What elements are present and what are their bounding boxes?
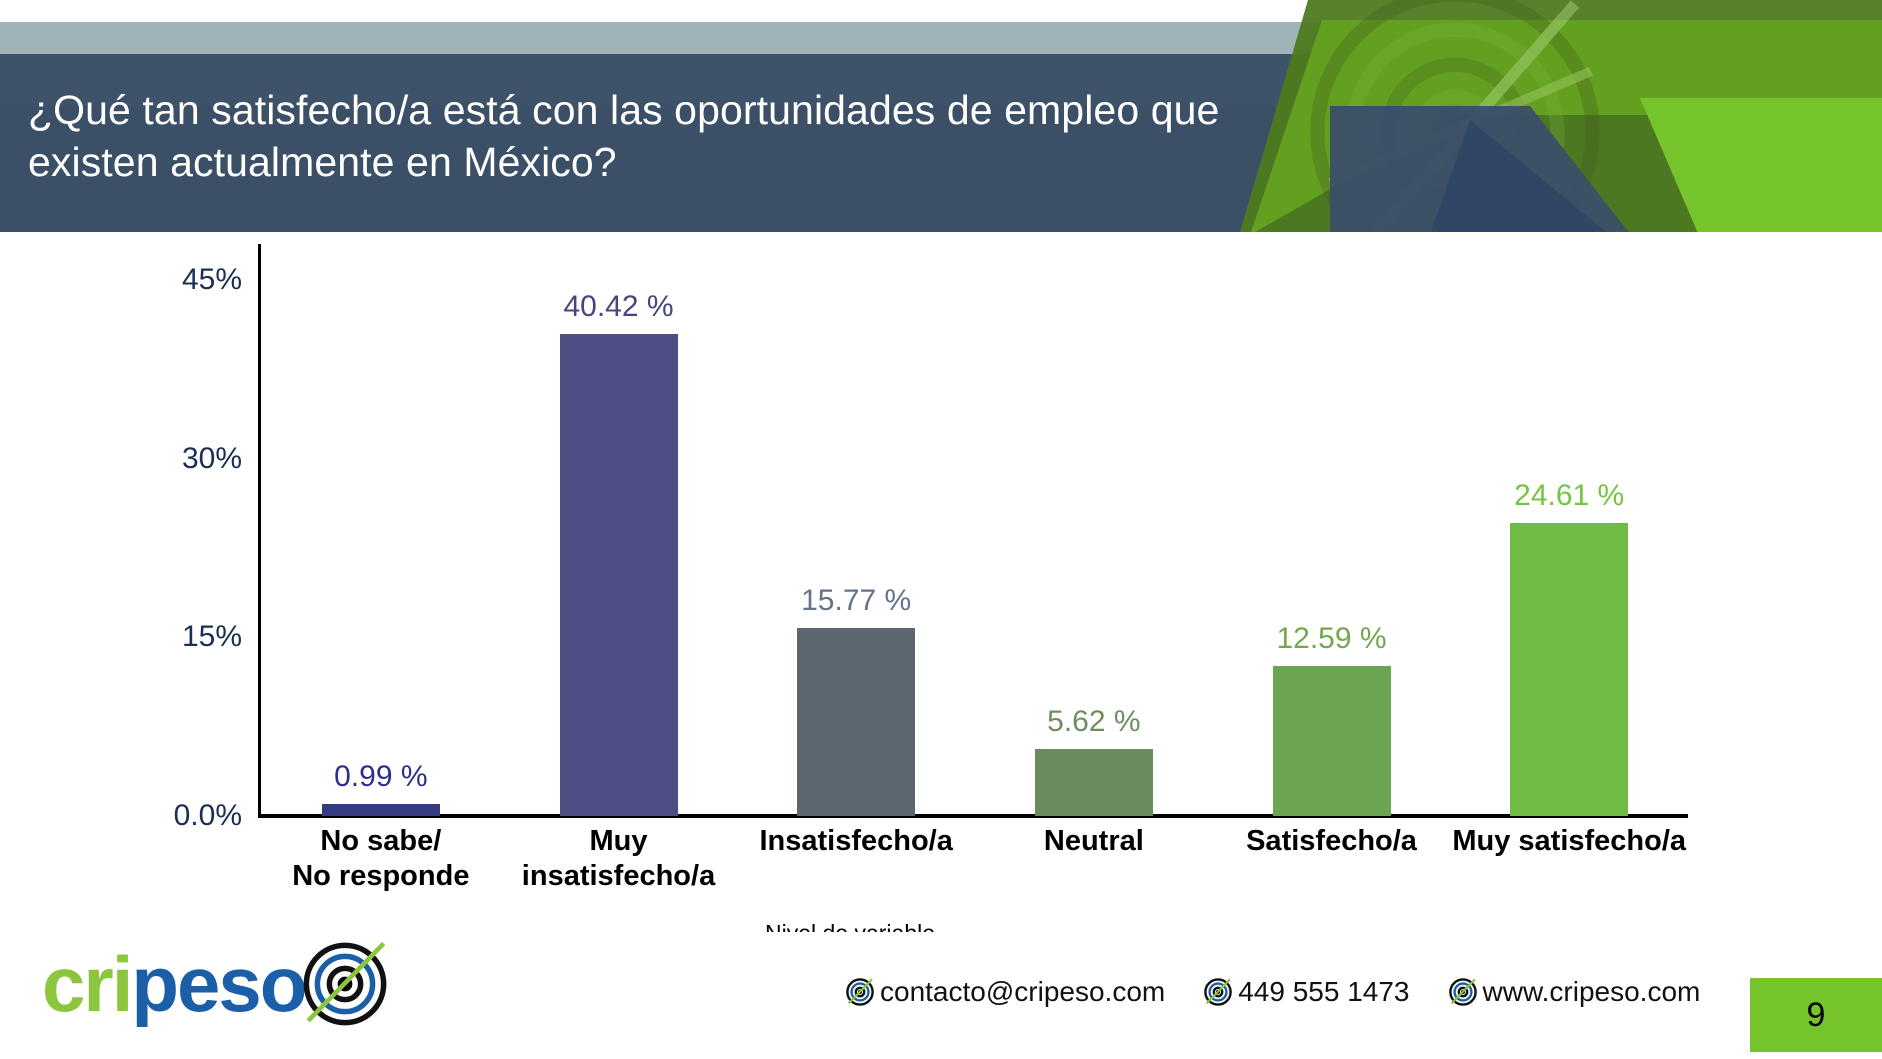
slide-footer: cripeso contacto@cripeso.com449 555 1473… xyxy=(0,932,1882,1059)
target-icon xyxy=(1448,977,1478,1007)
logo-text-peso: peso xyxy=(131,940,305,1028)
contact-text: www.cripeso.com xyxy=(1483,976,1701,1008)
bar-slot: 24.61 % xyxy=(1450,244,1688,816)
logo-target-icon xyxy=(299,938,391,1030)
x-axis-tick-label: Muy insatisfecho/a xyxy=(500,824,738,895)
bar-value-label: 15.77 % xyxy=(726,584,986,618)
contact-text: contacto@cripeso.com xyxy=(880,976,1165,1008)
slide-header: ¿Qué tan satisfecho/a está con las oport… xyxy=(0,0,1882,232)
bar-slot: 15.77 % xyxy=(737,244,975,816)
x-axis-category-labels: No sabe/ No respondeMuy insatisfecho/aIn… xyxy=(262,824,1688,895)
chart-container: 45%30%15%0.0% 0.99 %40.42 %15.77 %5.62 %… xyxy=(0,232,1882,932)
contact-item[interactable]: www.cripeso.com xyxy=(1448,976,1701,1008)
bar xyxy=(1035,749,1153,816)
bar xyxy=(322,804,440,816)
contact-item[interactable]: 449 555 1473 xyxy=(1203,976,1409,1008)
bar-value-label: 0.99 % xyxy=(251,760,511,794)
y-axis-tick-label: 30% xyxy=(182,442,258,476)
bar-series: 0.99 %40.42 %15.77 %5.62 %12.59 %24.61 % xyxy=(262,244,1688,816)
bar-slot: 40.42 % xyxy=(500,244,738,816)
y-axis-tick-label: 0.0% xyxy=(174,799,258,833)
logo-wordmark: cripeso xyxy=(42,945,305,1023)
page-number-badge: 9 xyxy=(1750,978,1882,1052)
contact-item[interactable]: contacto@cripeso.com xyxy=(845,976,1165,1008)
bar xyxy=(1273,666,1391,816)
x-axis-tick-label: Satisfecho/a xyxy=(1213,824,1451,895)
footer-contact-row: contacto@cripeso.com449 555 1473www.crip… xyxy=(845,976,1700,1008)
bar xyxy=(560,334,678,816)
x-axis-tick-label: No sabe/ No responde xyxy=(262,824,500,895)
x-axis-tick-label: Neutral xyxy=(975,824,1213,895)
x-axis-tick-label: Muy satisfecho/a xyxy=(1450,824,1688,895)
bar xyxy=(797,628,915,816)
cripeso-logo: cripeso xyxy=(42,936,391,1032)
contact-text: 449 555 1473 xyxy=(1238,976,1409,1008)
target-icon xyxy=(845,977,875,1007)
bar-slot: 5.62 % xyxy=(975,244,1213,816)
bar-value-label: 12.59 % xyxy=(1202,622,1462,656)
page-title: ¿Qué tan satisfecho/a está con las oport… xyxy=(28,84,1228,188)
target-icon xyxy=(1203,977,1233,1007)
bar-value-label: 5.62 % xyxy=(964,705,1224,739)
y-axis-tick-label: 15% xyxy=(182,620,258,654)
y-axis-tick-label: 45% xyxy=(182,263,258,297)
logo-text-cri: cri xyxy=(42,940,131,1028)
bar-value-label: 40.42 % xyxy=(489,290,749,324)
y-axis-line xyxy=(258,244,261,816)
bar xyxy=(1510,523,1628,816)
bar-slot: 0.99 % xyxy=(262,244,500,816)
bar-slot: 12.59 % xyxy=(1213,244,1451,816)
x-axis-tick-label: Insatisfecho/a xyxy=(737,824,975,895)
bar-value-label: 24.61 % xyxy=(1439,479,1699,513)
